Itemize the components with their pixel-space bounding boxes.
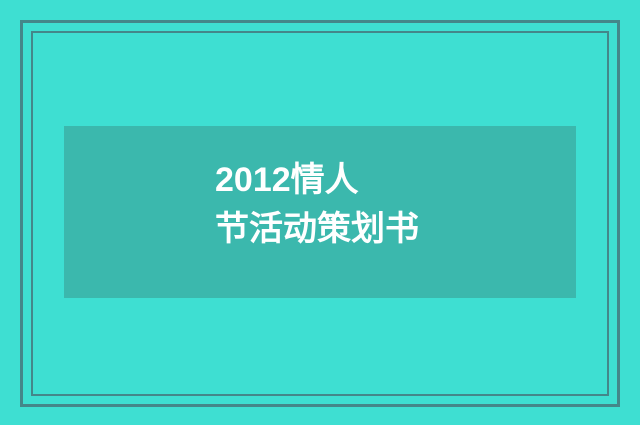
poster-title: 2012情人 节活动策划书: [215, 156, 635, 254]
poster-title-line-2: 节活动策划书: [215, 205, 635, 254]
poster-title-line-1: 2012情人: [215, 156, 635, 205]
poster-canvas: 2012情人 节活动策划书: [0, 0, 640, 425]
